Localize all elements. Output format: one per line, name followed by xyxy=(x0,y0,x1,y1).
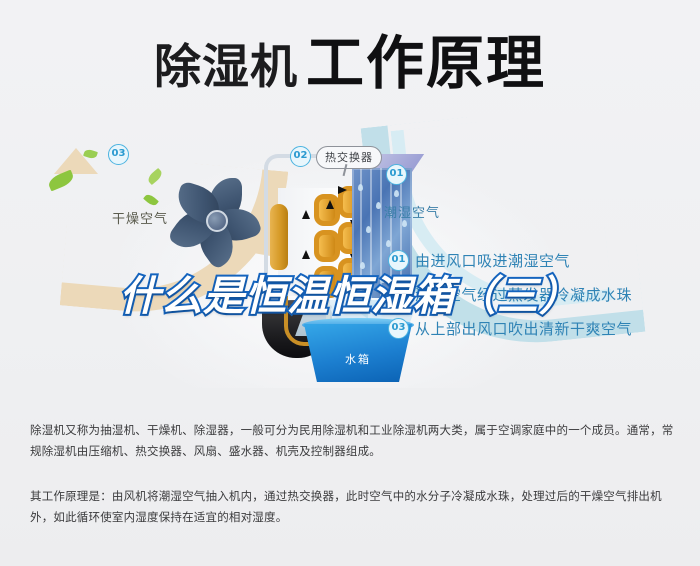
flow-arrow-up-icon xyxy=(326,200,334,209)
page-title-part1: 除湿机 xyxy=(154,40,298,95)
body-paragraph-2: 其工作原理是：由风机将潮湿空气抽入机内，通过热交换器，此时空气中的水分子冷凝成水… xyxy=(30,486,678,528)
accumulator-cylinder xyxy=(270,204,288,270)
flow-arrow-up-icon xyxy=(302,250,310,259)
water-droplet-icon xyxy=(358,184,363,191)
page-title-part2: 工作原理 xyxy=(306,29,546,97)
diagram-badge-03: 03 xyxy=(108,144,129,165)
body-paragraph-1: 除湿机又称为抽湿机、干燥机、除湿器，一般可分为民用除湿机和工业除湿机两大类，属于… xyxy=(30,420,678,462)
heat-exchanger-callout: 热交换器 xyxy=(316,146,382,169)
fan-icon xyxy=(168,170,264,266)
diagram-badge-01: 01 xyxy=(386,164,407,185)
flow-arrow-right-icon xyxy=(338,186,347,194)
water-droplet-icon xyxy=(402,220,407,227)
fan-hub xyxy=(206,210,228,232)
watermark-overlay-text: 什么是恒温恒湿箱（三） xyxy=(0,262,700,322)
condenser-coil xyxy=(314,230,340,262)
flow-arrow-up-icon xyxy=(302,210,310,219)
dry-air-label: 干燥空气 xyxy=(112,208,168,227)
infographic-page: 除湿机工作原理 干燥空气 03 xyxy=(0,0,700,566)
condenser-coil xyxy=(314,194,340,226)
humid-air-label: 潮湿空气 xyxy=(384,202,440,221)
water-droplet-icon xyxy=(394,190,399,197)
page-title: 除湿机工作原理 xyxy=(0,16,700,100)
water-droplet-icon xyxy=(376,202,381,209)
water-tank-label: 水箱 xyxy=(304,351,412,367)
water-droplet-icon xyxy=(366,226,371,233)
diagram-badge-02: 02 xyxy=(290,146,311,167)
